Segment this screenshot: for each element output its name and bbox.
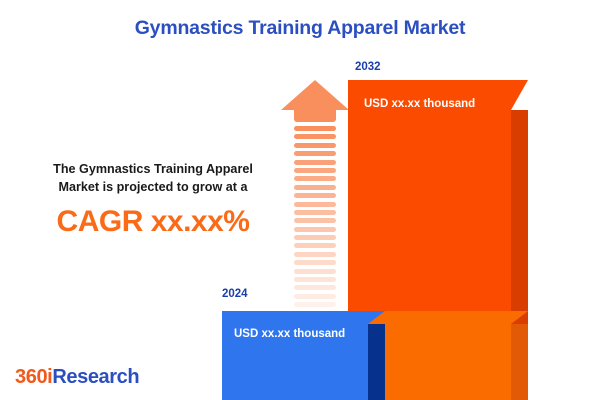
- arrow-stripe-icon: [294, 193, 336, 198]
- arrow-stripe-icon: [294, 260, 336, 265]
- bar-2024-value-label: USD xx.xx thousand: [234, 328, 345, 340]
- arrow-stripe-icon: [294, 285, 336, 290]
- bar-2032-lower-side-face: [511, 324, 528, 400]
- page-title: Gymnastics Training Apparel Market: [0, 17, 600, 40]
- market-infographic: Gymnastics Training Apparel Market The G…: [0, 0, 600, 400]
- arrow-stripe-icon: [294, 277, 336, 282]
- arrow-stripe-icon: [294, 151, 336, 156]
- arrow-stripe-icon: [294, 210, 336, 215]
- bar-2032-top-face: [511, 80, 528, 110]
- bar-2024-year-label: 2024: [222, 288, 248, 300]
- arrow-stripe-icon: [294, 269, 336, 274]
- bar-2024-front-face: [222, 311, 368, 400]
- brand-logo-orange-text: 360i: [15, 366, 52, 388]
- cagr-value: CAGR xx.xx%: [18, 206, 288, 238]
- arrow-stripe-icon: [294, 243, 336, 248]
- cagr-callout: The Gymnastics Training Apparel Market i…: [18, 160, 288, 237]
- arrow-stripe-icon: [294, 218, 336, 223]
- bar-2032-lower-top-face: [511, 311, 528, 324]
- arrow-neck-icon: [294, 109, 336, 122]
- arrow-stripe-icon: [294, 126, 336, 131]
- arrow-stripe-icon: [294, 235, 336, 240]
- arrow-stripe-icon: [294, 202, 336, 207]
- bar-2032-year-label: 2032: [355, 61, 381, 73]
- bar-2032-value-label: USD xx.xx thousand: [364, 98, 475, 110]
- bar-2024-top-face: [368, 311, 385, 324]
- bar-2024-side-face: [368, 324, 385, 400]
- arrow-stripe-icon: [294, 294, 336, 299]
- arrow-stripe-icon: [294, 185, 336, 190]
- callout-line-1: The Gymnastics Training Apparel: [18, 160, 288, 178]
- arrow-stripe-icon: [294, 227, 336, 232]
- arrow-stripe-icon: [294, 176, 336, 181]
- callout-line-2: Market is projected to grow at a: [18, 178, 288, 196]
- brand-logo: 360iResearch: [15, 366, 139, 389]
- arrow-stripe-icon: [294, 252, 336, 257]
- arrow-stripe-icon: [294, 302, 336, 307]
- growth-arrow-icon: [281, 80, 349, 290]
- arrow-stripe-icon: [294, 134, 336, 139]
- arrow-stripe-icon: [294, 143, 336, 148]
- brand-logo-blue-text: Research: [52, 366, 139, 388]
- arrow-stripe-icon: [294, 160, 336, 165]
- arrow-head-icon: [281, 80, 349, 110]
- arrow-stripe-icon: [294, 168, 336, 173]
